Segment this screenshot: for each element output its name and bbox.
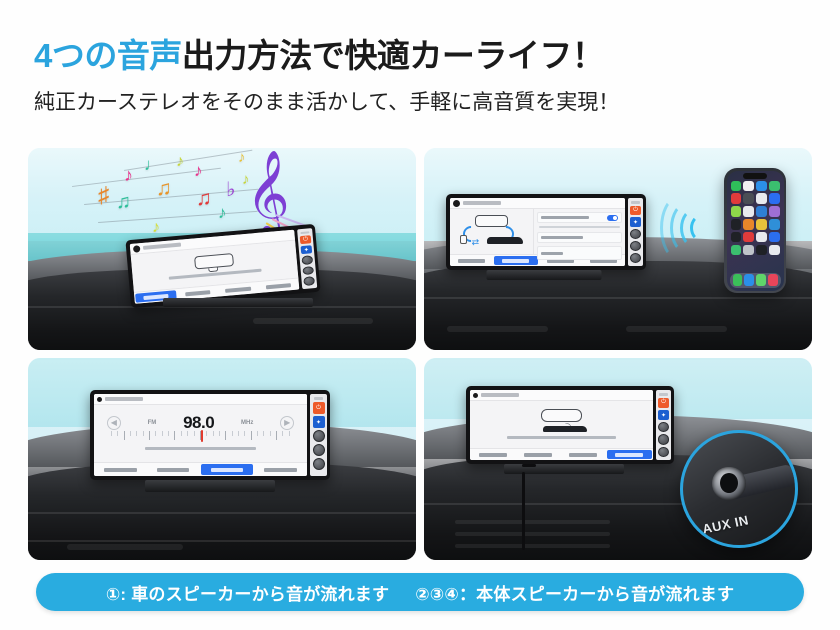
device-button-rail[interactable]: ⏻ ✦ [656,390,671,460]
dashboard-vent [253,318,373,324]
knob-button-1[interactable] [313,430,325,442]
device-tab-aux[interactable] [254,463,307,476]
music-note-icon: ♩ [144,156,161,173]
phone-notch [743,173,767,179]
car-icon [543,426,587,432]
panel-music-notes: ♩ ♪ ♪ ♪ ♯ ♫ ♫ ♪ ♫ ♭ ♪ ♪ ♪ 𝄞 [28,148,416,350]
device-stand [487,270,602,280]
knob-button-2[interactable] [658,434,669,444]
fm-tuning-needle [201,430,203,442]
device-status-bar [470,390,653,401]
music-app-icon[interactable] [768,274,777,286]
dashboard-vent [67,544,183,550]
dashboard-seam [424,297,812,299]
device-screen[interactable]: ⤵ [470,390,653,460]
settings-subtext [539,226,620,228]
app-icon[interactable] [769,206,779,216]
power-button[interactable]: ⏻ [630,206,641,216]
phone-app-grid[interactable] [731,181,780,256]
dashboard-seam [28,512,416,514]
knob-button-2[interactable] [302,266,314,276]
app-icon[interactable] [743,232,753,242]
footer-banner: ①: 車のスピーカーから音が流れます ②③④：本体スピーカーから音が流れます [36,573,804,611]
aux-zoom-bubble: AUX IN [680,430,798,548]
device-screen-body: ⇄ [450,209,625,254]
device-home-dot-icon[interactable] [133,245,141,253]
device-tab-bluetooth[interactable] [515,449,560,460]
app-icon[interactable] [756,181,766,191]
aux-device-outline-icon [541,409,581,421]
app-icon[interactable] [743,245,753,255]
music-note-icon: ♫ [196,188,212,209]
app-icon[interactable] [756,193,766,203]
app-icon[interactable] [743,219,753,229]
sync-arrows-icon: ⇄ [472,237,480,248]
fm-next-button[interactable]: ▶ [280,416,294,430]
panel-bluetooth-phone: ⇄ [424,148,812,350]
feature-panel-grid: ♩ ♪ ♪ ♪ ♯ ♫ ♫ ♪ ♫ ♭ ♪ ♪ ♪ 𝄞 [28,148,812,560]
device-screen-title [105,397,143,401]
phone-dock[interactable] [730,273,781,288]
bluetooth-button[interactable]: ✦ [630,217,641,227]
phone-app-icon[interactable] [733,274,742,286]
device-screen[interactable] [130,230,300,304]
settings-row-device-name[interactable] [537,212,622,223]
power-button[interactable]: ⏻ [658,398,669,408]
app-icon[interactable] [756,219,766,229]
page-title-highlight: 4つの音声 [34,37,182,74]
app-icon[interactable] [769,219,779,229]
device-home-dot-icon[interactable] [97,397,102,402]
sky-background [28,148,416,241]
music-note-icon: ♪ [218,204,227,221]
dashboard-vent [626,326,727,332]
car-display-device[interactable]: ⇄ [446,194,646,270]
app-icon[interactable] [756,245,766,255]
fm-hint-text [94,447,307,450]
device-status-bar [450,198,625,209]
app-icon[interactable] [731,193,741,203]
bluetooth-signal-arc [690,214,714,242]
device-screen-body: ⤵ [470,401,653,448]
app-icon[interactable] [743,193,753,203]
app-icon[interactable] [769,193,779,203]
device-tab-aux[interactable] [258,278,300,293]
app-icon[interactable] [731,181,741,191]
dashboard-vent [455,532,610,536]
rail-indicator [659,393,668,396]
car-display-device[interactable]: ◀ FM 98.0 MHz ▶ [90,390,330,480]
dashboard-vent [455,544,610,548]
aux-cable [522,464,536,467]
smartphone[interactable] [724,168,786,293]
panel-aux-in: ⤵ ⏻ ✦ [424,358,812,560]
device-status-bar [94,394,307,405]
knob-button-3[interactable] [630,253,641,263]
app-icon[interactable] [731,232,741,242]
device-tab-aux[interactable] [607,450,652,459]
car-display-device[interactable]: ⤵ ⏻ ✦ [466,386,674,464]
music-note-icon: ♪ [124,166,133,184]
music-note-icon: ♫ [116,192,131,212]
device-tab-bar[interactable] [94,462,307,476]
rail-indicator [300,231,309,234]
music-note-icon: ♪ [152,220,160,236]
app-icon[interactable] [743,206,753,216]
settings-row-pairing[interactable] [537,232,622,243]
dashboard-vent [447,326,548,332]
device-screen-title [143,243,181,250]
banner-right-text: ②③④：本体スピーカーから音が流れます [415,580,734,605]
fm-frequency-value: 98.0 [183,413,214,433]
page-title-rest: 出力方法で快適カーライフ！ [182,37,605,74]
knob-button-1[interactable] [658,422,669,432]
aux-in-label: AUX IN [701,512,750,536]
device-tab-bluetooth[interactable] [494,256,537,265]
bluetooth-settings-list[interactable] [534,209,625,254]
device-stand [145,480,275,492]
bluetooth-button[interactable]: ✦ [301,245,313,254]
fm-prev-button[interactable]: ◀ [107,416,121,430]
device-tab-car-speaker[interactable] [94,463,147,476]
device-tab-bluetooth[interactable] [147,463,200,476]
phone-icon [460,235,467,244]
fm-band-label: FM [148,420,157,426]
rail-indicator [314,397,323,400]
knob-button-2[interactable] [313,444,325,456]
app-icon[interactable] [756,232,766,242]
app-icon[interactable] [756,206,766,216]
panel-fm-transmitter: ◀ FM 98.0 MHz ▶ [28,358,416,560]
page-title: 4つの音声出力方法で快適カーライフ！ [34,38,840,74]
device-screen[interactable]: ◀ FM 98.0 MHz ▶ [94,394,307,476]
rail-indicator [631,201,640,204]
device-button-rail[interactable]: ⏻ ✦ [628,198,643,266]
knob-button-3[interactable] [658,447,669,457]
music-note-icon: ♫ [156,178,172,199]
device-tab-bar[interactable] [470,448,653,460]
bluetooth-illustration: ⇄ [450,209,534,254]
app-icon[interactable] [731,219,741,229]
device-tab-car-speaker[interactable] [470,449,515,460]
device-button-rail[interactable]: ⏻ ✦ [297,228,317,289]
device-tab-car-speaker[interactable] [450,255,493,266]
knob-button-2[interactable] [630,241,641,251]
aux-cable [522,472,525,550]
knob-button-1[interactable] [630,229,641,239]
bluetooth-button[interactable]: ✦ [313,416,325,428]
app-icon[interactable] [731,206,741,216]
device-home-dot-icon[interactable] [473,393,478,398]
page-subtitle: 純正カーステレオをそのまま活かして、手軽に高音質を実現！ [34,86,840,116]
dashboard-seam [28,540,416,542]
device-home-dot-icon[interactable] [453,200,460,207]
messages-app-icon[interactable] [756,274,765,286]
car-icon [487,237,524,244]
settings-row-status[interactable] [537,246,622,260]
device-screen[interactable]: ⇄ [450,198,625,266]
aux-hint-text [470,436,653,439]
device-screen-body: ◀ FM 98.0 MHz ▶ [94,405,307,462]
dashboard-vent [455,520,610,524]
device-stand [163,298,313,307]
fm-unit-label: MHz [241,420,253,426]
banner-left-text: ①: 車のスピーカーから音が流れます [106,580,389,605]
device-screen-title [481,393,519,397]
app-icon[interactable] [769,181,779,191]
knob-button-3[interactable] [313,458,325,470]
music-note-icon: ♪ [238,150,246,165]
device-tab-fm[interactable] [201,464,254,475]
page-header: 4つの音声出力方法で快適カーライフ！ 純正カーステレオをそのまま活かして、手軽に… [0,0,840,116]
power-button[interactable]: ⏻ [300,235,312,244]
power-button[interactable]: ⏻ [313,402,325,414]
device-screen-title [463,201,501,205]
app-icon[interactable] [769,245,779,255]
bluetooth-button[interactable]: ✦ [658,410,669,420]
app-icon[interactable] [769,232,779,242]
music-note-icon: ♪ [176,154,184,170]
safari-app-icon[interactable] [744,274,753,286]
product-feature-page: 4つの音声出力方法で快適カーライフ！ 純正カーステレオをそのまま活かして、手軽に… [0,0,840,630]
smartphone-screen[interactable] [727,171,784,291]
knob-button-3[interactable] [303,276,315,286]
music-sharp-icon: ♯ [98,184,109,206]
music-flat-icon: ♭ [226,180,235,200]
settings-toggle[interactable] [607,215,618,221]
knob-button-1[interactable] [301,255,313,265]
music-note-icon: ♪ [194,162,203,179]
app-icon[interactable] [731,245,741,255]
device-tab-fm[interactable] [217,282,259,297]
device-tab-fm[interactable] [561,449,606,460]
device-button-rail[interactable]: ⏻ ✦ [310,394,327,476]
app-icon[interactable] [743,181,753,191]
